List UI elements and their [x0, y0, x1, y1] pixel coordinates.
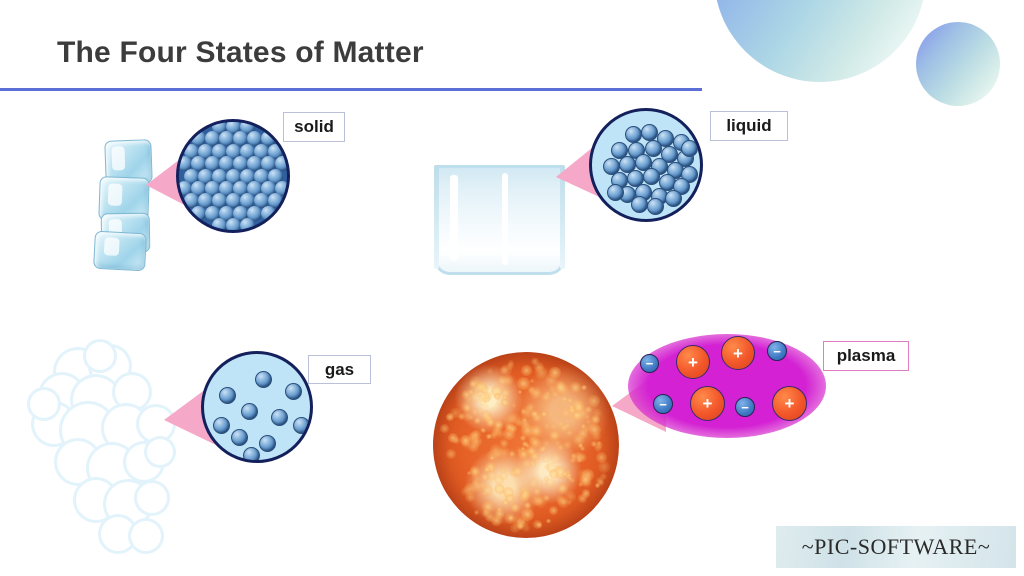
molecule-sphere — [647, 198, 664, 215]
water-glass-illustration — [434, 165, 565, 275]
label-gas: gas — [308, 355, 371, 384]
molecule-sphere — [231, 429, 248, 446]
ion-negative: − — [640, 354, 659, 373]
ice-cube — [93, 231, 147, 272]
molecule-sphere — [255, 371, 272, 388]
decorative-circle-large — [714, 0, 926, 82]
molecule-sphere — [226, 218, 241, 233]
magnifier-gas — [201, 351, 313, 463]
ion-positive: + — [772, 386, 807, 421]
watermark: ~PIC-SOFTWARE~ — [776, 526, 1016, 568]
label-liquid: liquid — [710, 111, 788, 141]
molecule-sphere — [641, 124, 658, 141]
molecule-sphere — [665, 190, 682, 207]
molecule-sphere — [271, 409, 288, 426]
label-plasma: plasma — [823, 341, 909, 371]
molecule-sphere — [643, 168, 660, 185]
watermark-text: ~PIC-SOFTWARE~ — [802, 534, 991, 560]
molecule-sphere — [681, 140, 698, 157]
molecule-sphere — [259, 435, 276, 452]
molecule-sphere — [219, 387, 236, 404]
molecule-sphere — [261, 206, 276, 221]
molecule-sphere — [213, 417, 230, 434]
molecule-sphere — [243, 447, 260, 463]
ion-positive: + — [690, 386, 725, 421]
steam-puff — [30, 390, 58, 418]
page-title: The Four States of Matter — [57, 36, 424, 70]
steam-puff — [131, 521, 161, 551]
molecule-sphere — [240, 218, 255, 233]
molecule-sphere — [241, 403, 258, 420]
title-divider-rule — [0, 88, 702, 91]
sun-fireball-illustration — [433, 352, 619, 538]
molecule-sphere — [212, 218, 227, 233]
molecule-sphere — [293, 417, 310, 434]
magnifier-solid — [176, 119, 290, 233]
molecule-sphere — [607, 184, 624, 201]
magnifier-liquid — [589, 108, 703, 222]
steam-puff — [86, 342, 114, 370]
steam-puff — [137, 483, 167, 513]
ion-positive: + — [721, 336, 755, 370]
ion-negative: − — [735, 397, 755, 417]
molecule-sphere — [631, 196, 648, 213]
decorative-circle-small — [916, 22, 1000, 106]
label-solid: solid — [283, 112, 345, 142]
ion-negative: − — [653, 394, 673, 414]
ion-positive: + — [676, 345, 710, 379]
ion-negative: − — [767, 341, 787, 361]
steam-puff — [115, 375, 149, 409]
molecule-sphere — [285, 383, 302, 400]
slide-canvas: The Four States of Matter solid — [0, 0, 1024, 576]
molecule-sphere — [625, 126, 642, 143]
molecule-sphere — [191, 206, 206, 221]
steam-puff — [101, 517, 135, 551]
